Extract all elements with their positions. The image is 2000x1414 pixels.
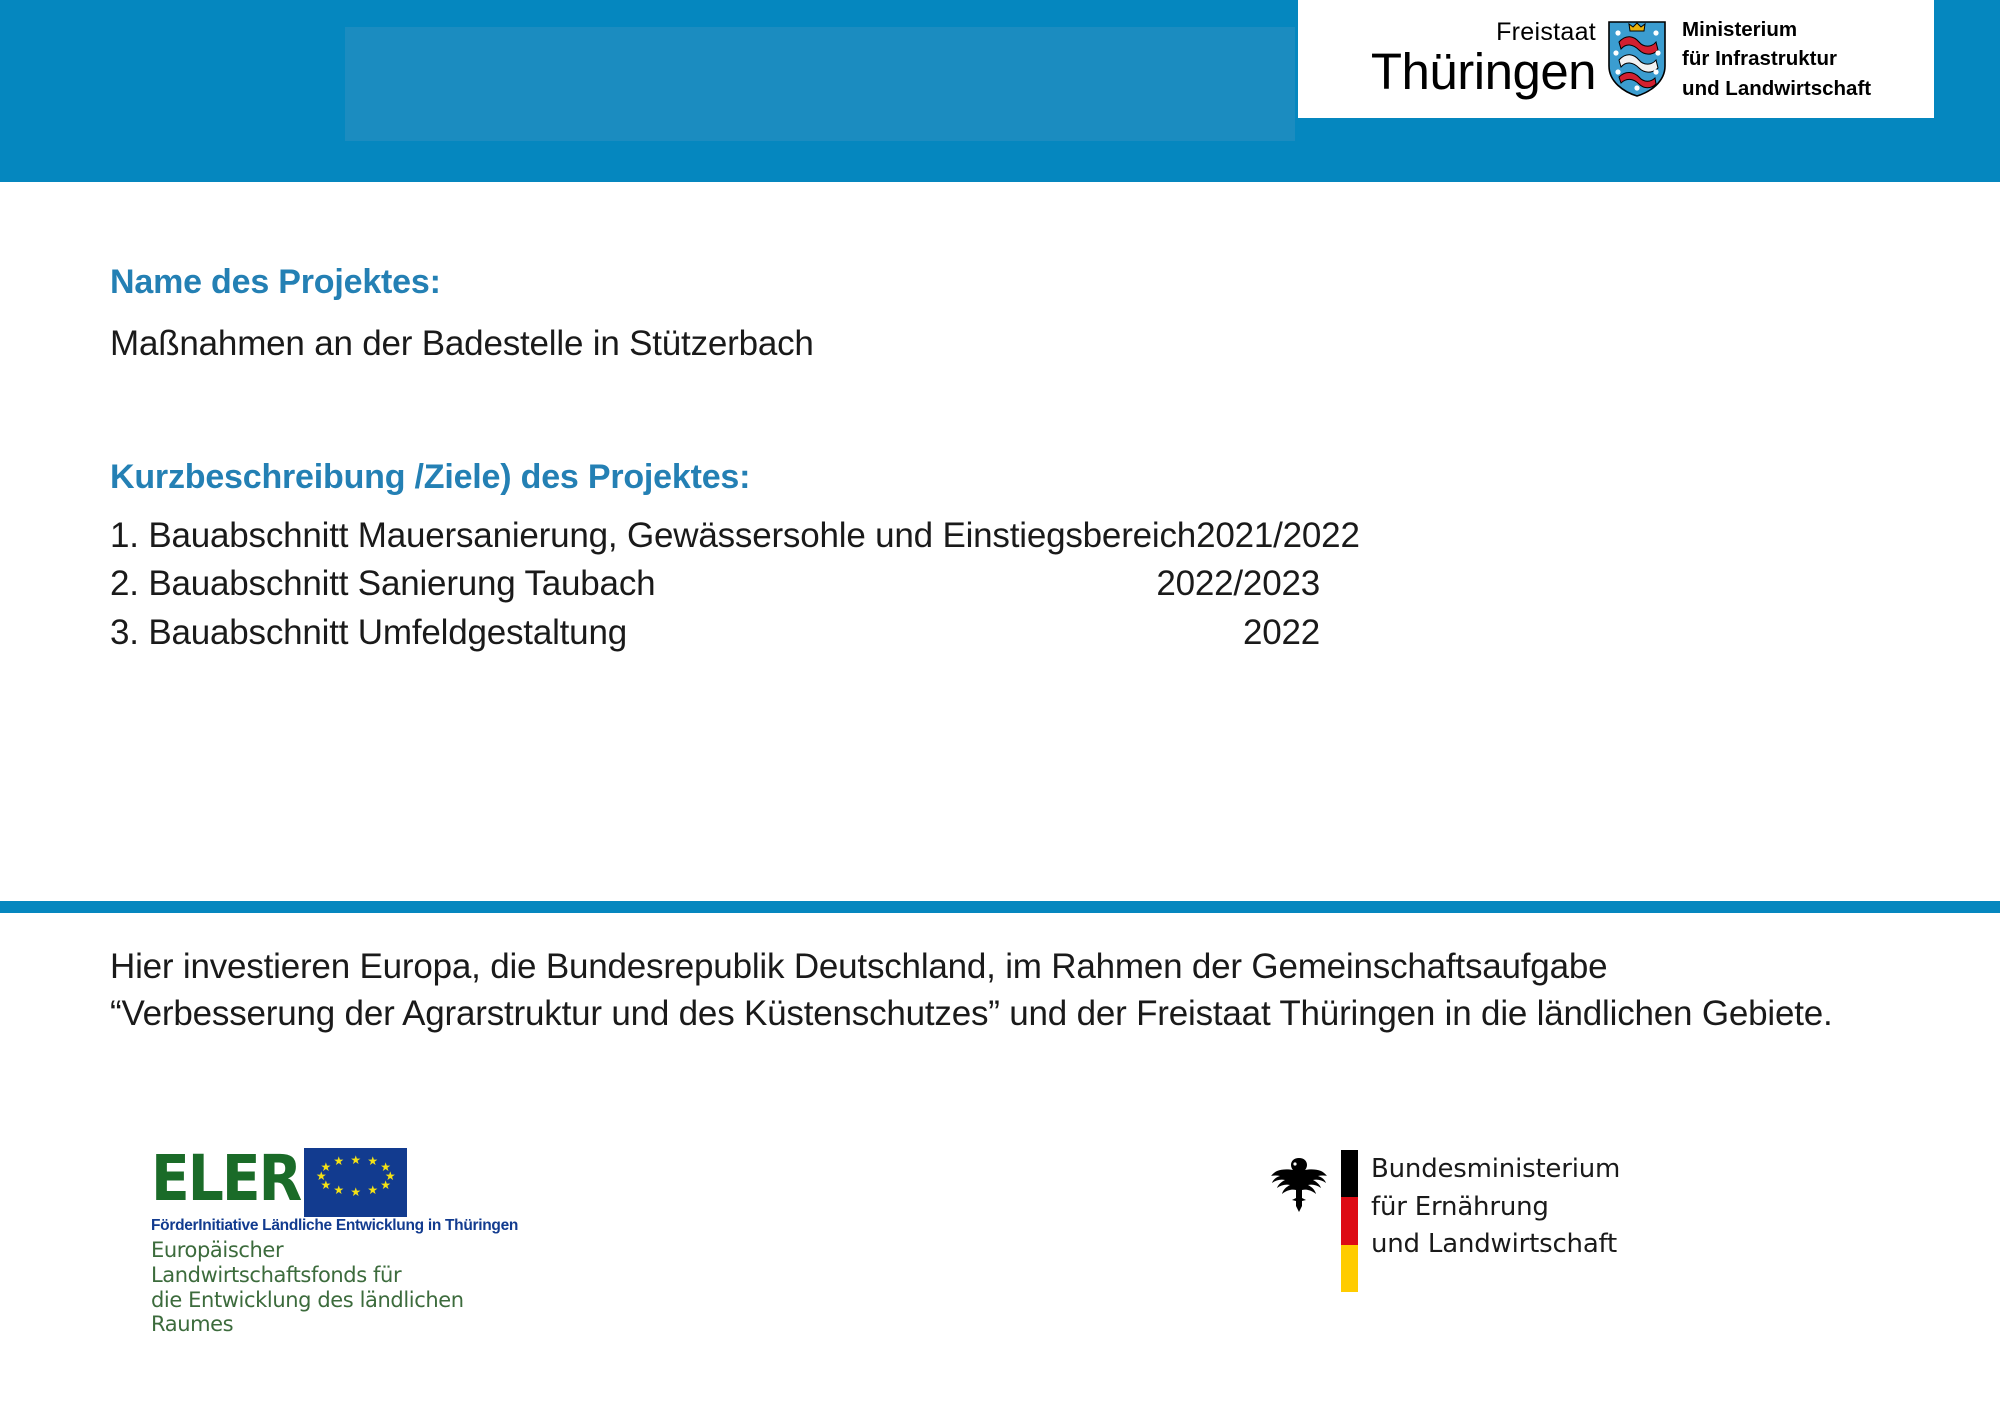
bmel-logo: Bundesministerium für Ernährung und Land… xyxy=(1270,1150,1620,1292)
measure-label: 3. Bauabschnitt Umfeldgestaltung xyxy=(110,609,627,658)
german-flag-bar-icon xyxy=(1341,1150,1358,1292)
table-row: 1. Bauabschnitt Mauersanierung, Gewässer… xyxy=(110,512,1320,561)
section-divider xyxy=(0,901,2000,913)
measure-year: 2021/2022 xyxy=(1196,512,1360,561)
table-row: 2. Bauabschnitt Sanierung Taubach 2022/2… xyxy=(110,560,1320,609)
measures-list: 1. Bauabschnitt Mauersanierung, Gewässer… xyxy=(110,512,1900,658)
eler-acronym: ELER xyxy=(151,1148,300,1210)
eler-logo: ELER ★ ★ ★ ★ ★ ★ ★ ★ ★ ★ ★ ★ FörderIniti… xyxy=(145,1142,475,1343)
header-title-placeholder-box xyxy=(345,27,1295,141)
federal-eagle-icon xyxy=(1270,1154,1328,1216)
bmel-line-1: Bundesministerium xyxy=(1371,1151,1620,1189)
bmel-line-3: und Landwirtschaft xyxy=(1371,1226,1620,1264)
eler-tagline-green-line-2: die Entwicklung des ländlichen Raumes xyxy=(151,1288,471,1338)
eler-logo-top-row: ELER ★ ★ ★ ★ ★ ★ ★ ★ ★ ★ ★ ★ xyxy=(151,1148,471,1210)
measure-year: 2022 xyxy=(1243,609,1320,658)
project-name-heading: Name des Projektes: xyxy=(110,262,1900,303)
freistaat-label: Freistaat xyxy=(1496,20,1596,45)
european-union-flag-icon: ★ ★ ★ ★ ★ ★ ★ ★ ★ ★ ★ ★ xyxy=(304,1148,407,1217)
ministry-line-1: Ministerium xyxy=(1682,15,1871,44)
measure-label: 2. Bauabschnitt Sanierung Taubach xyxy=(110,560,655,609)
state-name-label: Thüringen xyxy=(1371,46,1596,97)
ministry-name: Ministerium für Infrastruktur und Landwi… xyxy=(1682,15,1871,102)
ministry-line-3: und Landwirtschaft xyxy=(1682,74,1871,103)
logo-group: Freistaat Thüringen xyxy=(1361,15,1871,102)
funding-statement: Hier investieren Europa, die Bundesrepub… xyxy=(110,944,1840,1037)
thuringia-ministry-logo: Freistaat Thüringen xyxy=(1298,0,1934,118)
table-row: 3. Bauabschnitt Umfeldgestaltung 2022 xyxy=(110,609,1320,658)
eler-tagline-green: Europäischer Landwirtschaftsfonds für di… xyxy=(151,1238,471,1337)
eler-tagline-green-line-1: Europäischer Landwirtschaftsfonds für xyxy=(151,1238,471,1288)
project-poster-page: Freistaat Thüringen xyxy=(0,0,2000,1414)
bmel-line-2: für Ernährung xyxy=(1371,1189,1620,1227)
thuringia-coat-of-arms-icon xyxy=(1606,20,1668,98)
description-heading: Kurzbeschreibung /Ziele) des Projektes: xyxy=(110,457,1900,498)
measure-year: 2022/2023 xyxy=(1156,560,1320,609)
eler-tagline-blue: FörderInitiative Ländliche Entwicklung i… xyxy=(151,1217,471,1235)
bmel-ministry-name: Bundesministerium für Ernährung und Land… xyxy=(1371,1151,1620,1264)
main-content: Name des Projektes: Maßnahmen an der Bad… xyxy=(110,262,1900,658)
header-band: Freistaat Thüringen xyxy=(0,0,2000,182)
ministry-line-2: für Infrastruktur xyxy=(1682,44,1871,73)
measure-label: 1. Bauabschnitt Mauersanierung, Gewässer… xyxy=(110,512,1196,561)
thuringia-wordmark: Freistaat Thüringen xyxy=(1371,20,1596,97)
project-name-value: Maßnahmen an der Badestelle in Stützerba… xyxy=(110,323,1900,365)
